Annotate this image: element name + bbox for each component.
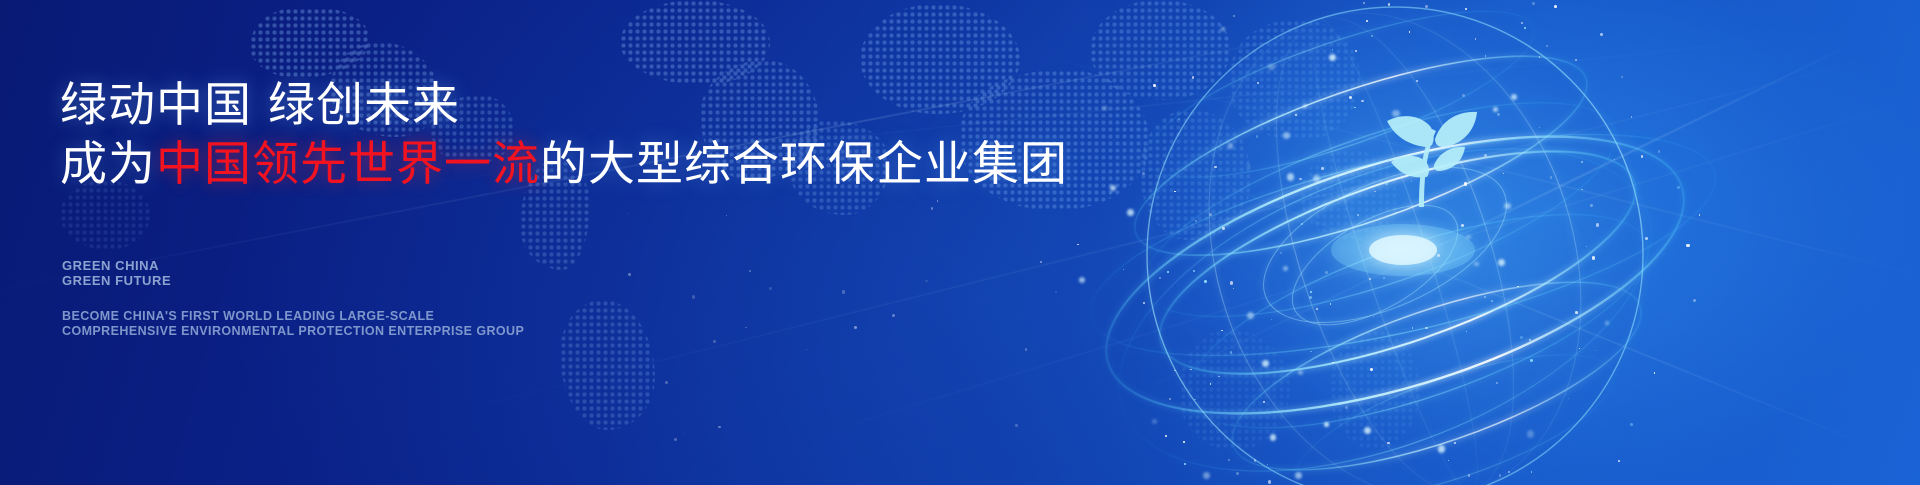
tagline-line-2: COMPREHENSIVE ENVIRONMENTAL PROTECTION E… (62, 324, 524, 339)
headline-line-1: 绿动中国 绿创未来 (60, 78, 1068, 133)
tagline-line-1: BECOME CHINA'S FIRST WORLD LEADING LARGE… (62, 309, 524, 324)
sprout-seedling-icon (1387, 112, 1477, 207)
globe-glow (1080, 0, 1840, 485)
headline-line2-highlight: 中国领先世界一流 (156, 137, 540, 192)
tagline-english: BECOME CHINA'S FIRST WORLD LEADING LARGE… (62, 309, 524, 338)
headline-line2-prefix: 成为 (60, 137, 156, 192)
slogan-line-1: GREEN CHINA (62, 258, 171, 273)
slogan-english: GREEN CHINA GREEN FUTURE (62, 258, 171, 288)
wireframe-globe-graphic (1085, 0, 1705, 485)
headline-line-2: 成为中国领先世界一流的大型综合环保企业集团 (60, 137, 1068, 192)
headline-block: 绿动中国 绿创未来 成为中国领先世界一流的大型综合环保企业集团 (60, 78, 1068, 193)
slogan-line-2: GREEN FUTURE (62, 273, 171, 288)
hero-banner: 绿动中国 绿创未来 成为中国领先世界一流的大型综合环保企业集团 GREEN CH… (0, 0, 1920, 485)
headline-line2-suffix: 的大型综合环保企业集团 (540, 137, 1068, 192)
banner-copy: 绿动中国 绿创未来 成为中国领先世界一流的大型综合环保企业集团 GREEN CH… (60, 0, 1060, 485)
